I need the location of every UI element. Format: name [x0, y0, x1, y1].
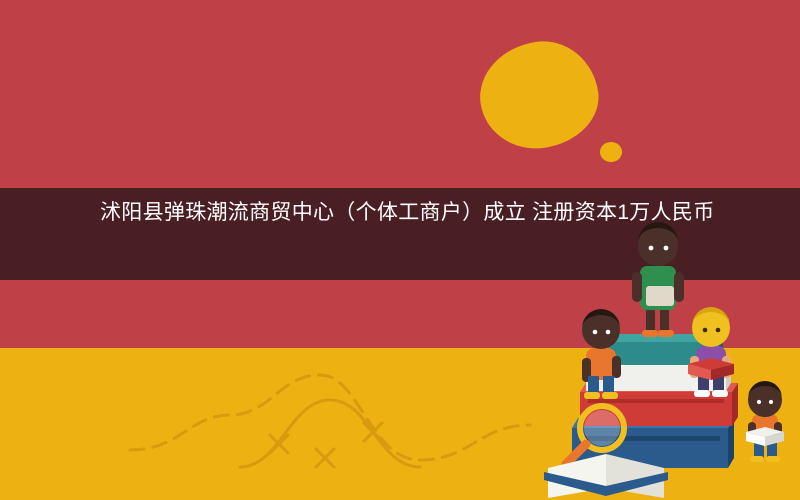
- poster-headline: 沭阳县弹珠潮流商贸中心（个体工商户）成立 注册资本1万人民币: [100, 196, 720, 229]
- child-bottom-right: [746, 381, 784, 462]
- wave-line-graph-icon: [120, 355, 540, 485]
- background-band-top: [0, 0, 800, 188]
- poster-image: 沭阳县弹珠潮流商贸中心（个体工商户）成立 注册资本1万人民币: [0, 0, 800, 500]
- child-standing: [632, 222, 684, 337]
- yellow-blob-small-icon: [600, 142, 622, 162]
